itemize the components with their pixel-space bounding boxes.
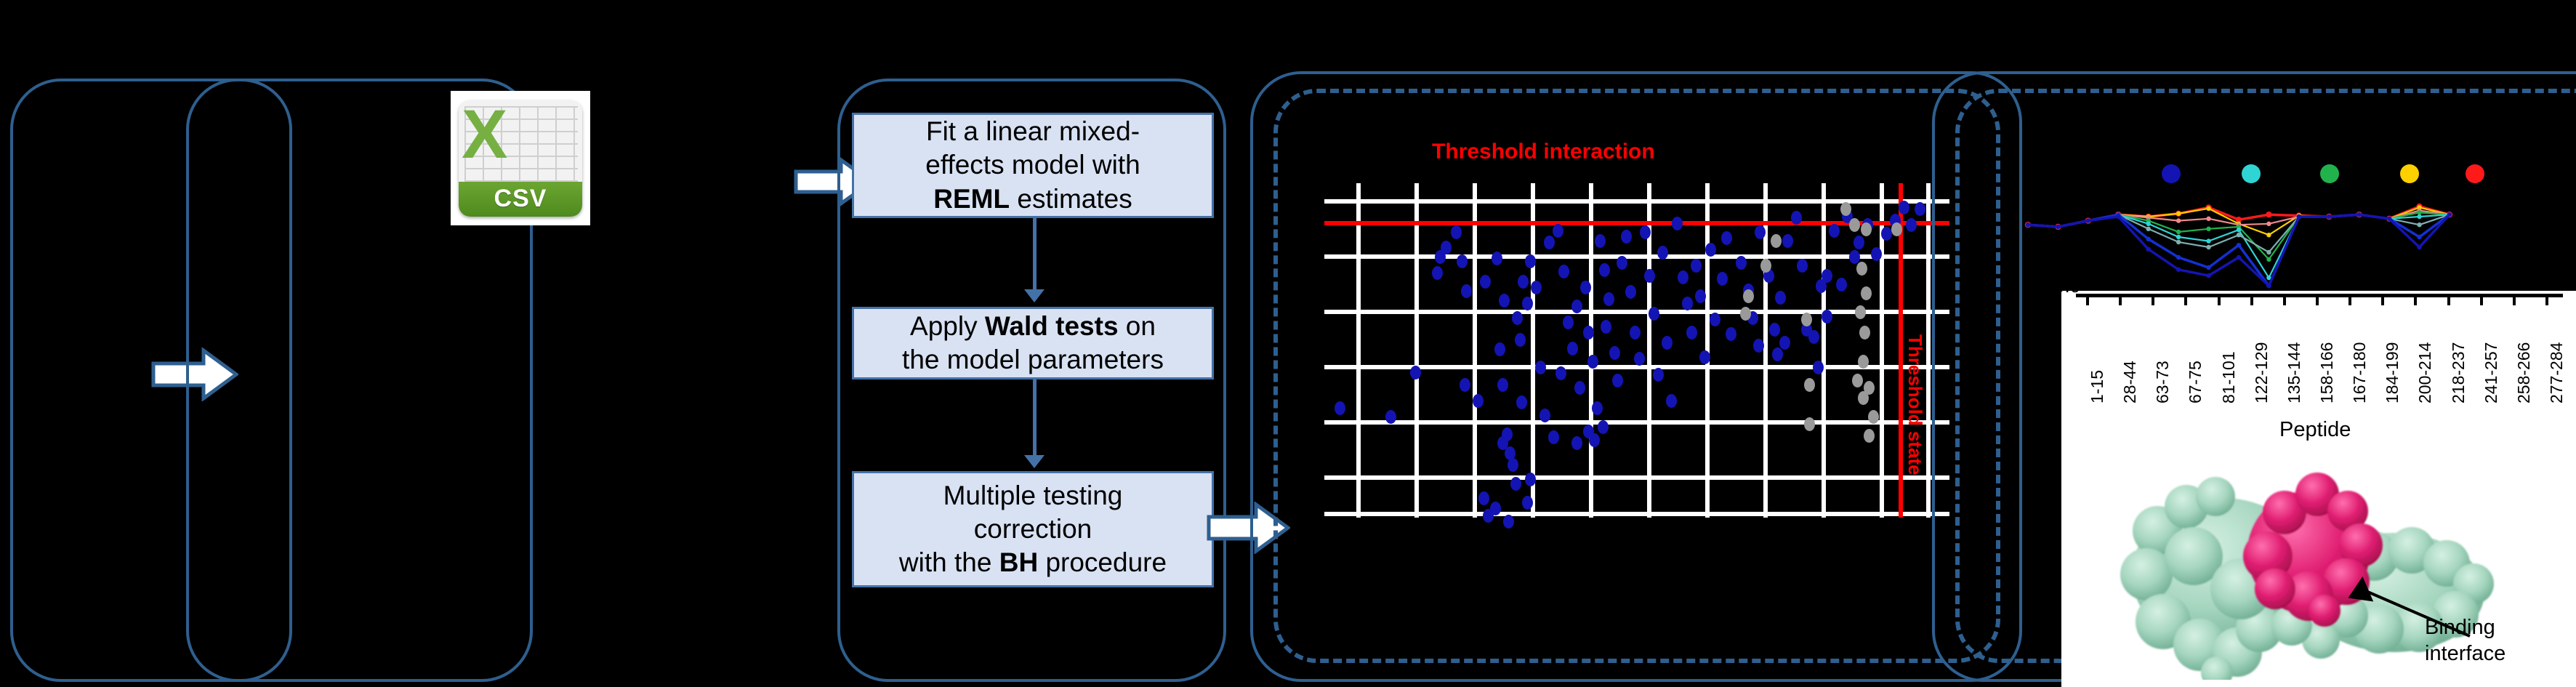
x-tick-mark — [2184, 294, 2187, 305]
x-tick-mark — [2152, 294, 2154, 305]
series-point-yellow — [2266, 233, 2271, 237]
x-tick-label-28-44: 28-44 — [2120, 361, 2140, 403]
structure-card: 0.0 1-1528-4463-7367-7581-101122-129135-… — [2061, 291, 2576, 687]
step3-pre: with the — [899, 547, 999, 577]
series-point-navy — [2387, 217, 2391, 221]
series-point-cyan — [2237, 228, 2241, 232]
series-point-teal-gray — [2176, 240, 2181, 244]
step3-post: procedure — [1038, 547, 1167, 577]
x-tick-label-1-15: 1-15 — [2088, 370, 2107, 403]
series-point-yellow — [2176, 212, 2181, 216]
series-point-navy — [2086, 218, 2090, 222]
step1-line1: Fit a linear mixed- — [926, 116, 1140, 146]
x-tick-mark — [2119, 294, 2122, 305]
series-point-navy — [2357, 212, 2362, 217]
csv-file-thumbnail: X CSV — [451, 91, 590, 225]
csv-extension-band: CSV — [459, 182, 582, 217]
series-point-navy — [2447, 212, 2452, 217]
connector-step2-step3-arrowhead — [1024, 455, 1045, 468]
binding-interface-line2: interface — [2425, 642, 2505, 665]
connector-step1-step2-arrowhead — [1024, 289, 1045, 302]
series-point-blue — [2176, 255, 2181, 260]
binding-interface-line1: Binding — [2425, 616, 2495, 639]
series-point-navy — [2206, 273, 2210, 278]
series-point-cyan — [2206, 238, 2210, 243]
volcano-scatter-chart: Threshold interaction — [1287, 145, 1992, 531]
series-point-teal-gray — [2266, 250, 2271, 254]
step-fit-model-text: Fit a linear mixed- effects model with R… — [925, 115, 1140, 216]
step-multiple-testing-text: Multiple testing correction with the BH … — [899, 479, 1167, 580]
step-fit-model-box: Fit a linear mixed- effects model with R… — [852, 113, 1214, 218]
x-tick-mark — [2086, 294, 2089, 305]
step2-pre: Apply — [910, 311, 985, 341]
series-point-yellow — [2206, 206, 2210, 211]
series-point-navy — [2237, 255, 2241, 260]
step3-line2: correction — [974, 514, 1092, 544]
x-tick-label-63-73: 63-73 — [2153, 361, 2173, 403]
series-point-navy — [2417, 245, 2421, 249]
x-tick-mark — [2480, 294, 2483, 305]
csv-sheet: X — [459, 100, 582, 182]
series-point-blue — [2146, 237, 2151, 241]
series-point-salmon — [2176, 218, 2181, 222]
x-tick-label-258-266: 258-266 — [2514, 342, 2534, 403]
series-point-navy — [2026, 222, 2030, 227]
series-point-red — [2266, 212, 2271, 217]
x-tick-label-277-284: 277-284 — [2547, 342, 2567, 403]
x-tick-label-200-214: 200-214 — [2415, 342, 2435, 403]
series-point-salmon — [2266, 222, 2271, 226]
scatter-plot-area — [1324, 183, 1949, 518]
x-axis-line — [2076, 294, 2563, 297]
series-point-navy — [2056, 225, 2060, 229]
series-point-blue — [2237, 243, 2241, 247]
series-point-teal-gray — [2237, 233, 2241, 237]
x-tick-label-184-199: 184-199 — [2383, 342, 2402, 403]
series-point-blue — [2417, 235, 2421, 239]
step-wald-tests-text: Apply Wald tests on the model parameters — [902, 310, 1164, 377]
series-point-salmon — [2206, 217, 2210, 221]
legend-dot-red — [2466, 164, 2484, 183]
flowchart-figure: X CSV Fit a linear mixed- effects model … — [0, 0, 2576, 687]
x-tick-label-167-180: 167-180 — [2350, 342, 2370, 403]
y-axis-zero-label: 0.0 — [2061, 291, 2080, 297]
x-axis-title: Peptide — [2279, 418, 2351, 442]
connector-step1-step2 — [1033, 218, 1037, 300]
legend-dot-yellow — [2400, 164, 2419, 183]
series-point-navy — [2146, 247, 2151, 252]
series-point-navy — [2327, 214, 2331, 219]
series-point-navy — [2266, 284, 2271, 288]
x-tick-label-135-144: 135-144 — [2285, 342, 2304, 403]
x-tick-label-122-129: 122-129 — [2252, 342, 2271, 403]
series-point-teal-gray — [2417, 222, 2421, 227]
x-tick-mark — [2250, 294, 2253, 305]
step1-line2: effects model with — [925, 150, 1140, 180]
series-point-cyan — [2146, 222, 2151, 226]
x-tick-mark — [2348, 294, 2351, 305]
x-tick-label-67-75: 67-75 — [2186, 361, 2205, 403]
legend-dot-navy — [2162, 164, 2181, 183]
x-tick-mark — [2414, 294, 2417, 305]
connector-step2-step3 — [1033, 379, 1037, 465]
series-point-navy — [2176, 268, 2181, 272]
x-tick-mark — [2381, 294, 2384, 305]
step3-bold: BH — [999, 547, 1038, 577]
x-tick-mark — [2447, 294, 2450, 305]
step2-bold: Wald tests — [985, 311, 1119, 341]
step-multiple-testing-box: Multiple testing correction with the BH … — [852, 471, 1214, 587]
x-tick-mark — [2316, 294, 2319, 305]
series-point-navy — [2116, 214, 2120, 219]
csv-extension-label: CSV — [494, 185, 547, 213]
series-point-teal-gray — [2146, 227, 2151, 231]
peptide-line-chart — [2013, 182, 2464, 291]
step1-line3-post: estimates — [1010, 184, 1132, 214]
step3-line1: Multiple testing — [943, 481, 1123, 510]
step2-post: on — [1119, 311, 1156, 341]
step2-line2: the model parameters — [902, 345, 1164, 374]
csv-x-letter: X — [462, 102, 507, 167]
x-tick-label-218-237: 218-237 — [2449, 342, 2468, 403]
series-point-green — [2266, 257, 2271, 262]
scatter-title: Threshold interaction — [1432, 140, 1655, 164]
series-point-cyan — [2176, 235, 2181, 239]
legend-dot-cyan — [2242, 164, 2261, 183]
x-tick-label-158-166: 158-166 — [2317, 342, 2337, 403]
legend-dot-green — [2320, 164, 2339, 183]
x-tick-mark — [2283, 294, 2286, 305]
x-tick-mark — [2545, 294, 2548, 305]
x-tick-label-241-257: 241-257 — [2482, 342, 2501, 403]
step1-bold: REML — [933, 184, 1010, 214]
binding-interface-annotation: Binding interface — [2425, 614, 2505, 667]
threshold-state-label: Threshold state — [1904, 334, 1926, 475]
x-tick-label-81-101: 81-101 — [2219, 351, 2239, 403]
series-point-cyan — [2417, 214, 2421, 219]
series-point-teal-gray — [2206, 245, 2210, 249]
series-point-green — [2176, 230, 2181, 234]
series-point-green — [2206, 227, 2210, 231]
x-tick-mark — [2218, 294, 2221, 305]
step-wald-tests-box: Apply Wald tests on the model parameters — [852, 307, 1214, 379]
x-tick-mark — [2513, 294, 2516, 305]
csv-icon: X CSV — [459, 100, 582, 217]
series-point-navy — [2297, 214, 2301, 219]
series-point-blue — [2206, 265, 2210, 270]
series-point-green — [2417, 210, 2421, 214]
